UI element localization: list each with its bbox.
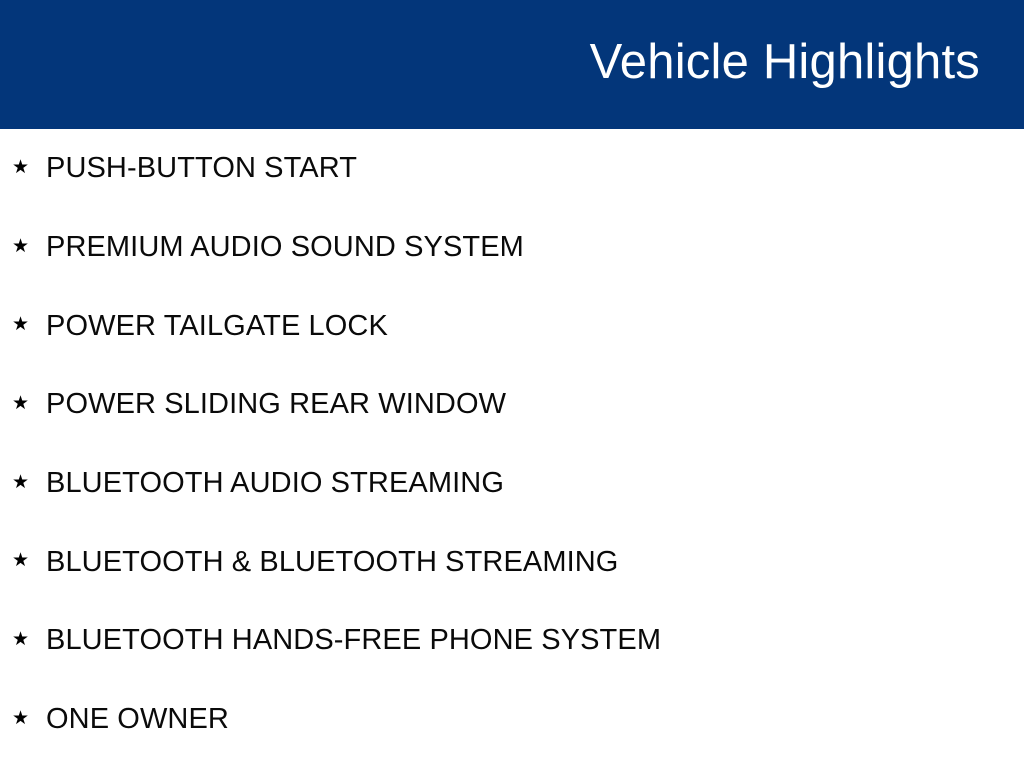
highlight-label: ONE OWNER — [46, 702, 229, 736]
vehicle-highlights-slide: Vehicle Highlights ★ PUSH-BUTTON START ★… — [0, 0, 1024, 768]
star-bullet-icon: ★ — [12, 473, 32, 492]
list-item: ★ POWER SLIDING REAR WINDOW — [0, 365, 1024, 444]
list-item: ★ BLUETOOTH HANDS-FREE PHONE SYSTEM — [0, 601, 1024, 680]
star-bullet-icon: ★ — [12, 709, 32, 728]
highlight-label: BLUETOOTH HANDS-FREE PHONE SYSTEM — [46, 623, 661, 657]
highlight-label: POWER TAILGATE LOCK — [46, 309, 388, 343]
highlight-label: PUSH-BUTTON START — [46, 151, 357, 185]
highlight-label: POWER SLIDING REAR WINDOW — [46, 387, 506, 421]
highlight-label: BLUETOOTH & BLUETOOTH STREAMING — [46, 545, 618, 579]
list-item: ★ ONE OWNER — [0, 680, 1024, 759]
star-bullet-icon: ★ — [12, 158, 32, 177]
list-item: ★ PUSH-BUTTON START — [0, 129, 1024, 208]
list-item: ★ PREMIUM AUDIO SOUND SYSTEM — [0, 208, 1024, 287]
vehicle-highlights-list: ★ PUSH-BUTTON START ★ PREMIUM AUDIO SOUN… — [0, 129, 1024, 759]
list-item: ★ POWER TAILGATE LOCK — [0, 286, 1024, 365]
star-bullet-icon: ★ — [12, 237, 32, 256]
highlight-label: PREMIUM AUDIO SOUND SYSTEM — [46, 230, 524, 264]
star-bullet-icon: ★ — [12, 315, 32, 334]
page-title: Vehicle Highlights — [590, 30, 980, 94]
header-banner: Vehicle Highlights — [0, 0, 1024, 129]
list-item: ★ BLUETOOTH AUDIO STREAMING — [0, 444, 1024, 523]
star-bullet-icon: ★ — [12, 394, 32, 413]
list-item: ★ BLUETOOTH & BLUETOOTH STREAMING — [0, 522, 1024, 601]
star-bullet-icon: ★ — [12, 551, 32, 570]
star-bullet-icon: ★ — [12, 630, 32, 649]
highlight-label: BLUETOOTH AUDIO STREAMING — [46, 466, 504, 500]
